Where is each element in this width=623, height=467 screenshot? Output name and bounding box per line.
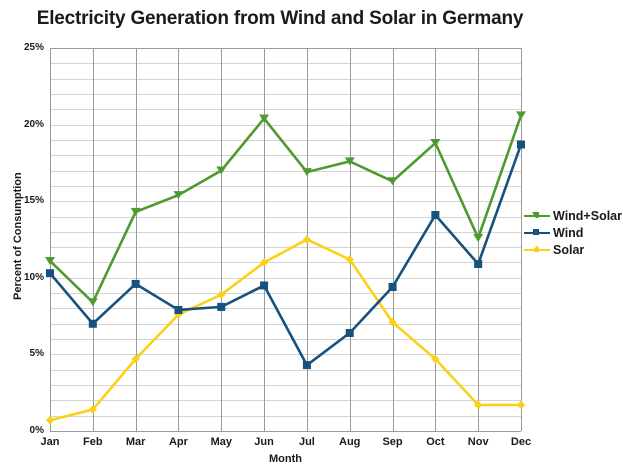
legend-item-wind-solar[interactable]: Wind+Solar	[524, 207, 622, 224]
legend-label: Wind+Solar	[553, 209, 622, 223]
legend-swatch-solar-icon	[524, 243, 550, 257]
legend-label: Wind	[553, 226, 583, 240]
chart-container: Electricity Generation from Wind and Sol…	[0, 0, 623, 467]
x-tick-dec: Dec	[496, 436, 546, 448]
y-tick-20: 20%	[2, 119, 44, 130]
y-tick-0: 0%	[2, 425, 44, 436]
x-axis-title: Month	[50, 453, 521, 465]
y-tick-5: 5%	[2, 348, 44, 359]
minor-gridlines	[50, 64, 521, 417]
legend-item-wind[interactable]: Wind	[524, 224, 622, 241]
legend-item-solar[interactable]: Solar	[524, 241, 622, 258]
legend-label: Solar	[553, 243, 584, 257]
series-line-wind-solar	[50, 115, 521, 302]
chart-title: Electricity Generation from Wind and Sol…	[0, 8, 560, 30]
y-tick-15: 15%	[2, 195, 44, 206]
series-lines	[50, 115, 521, 420]
legend-swatch-wind-icon	[524, 226, 550, 240]
legend-swatch-wind-solar-icon	[524, 209, 550, 223]
series-line-solar	[50, 240, 521, 421]
chart-legend: Wind+SolarWindSolar	[524, 207, 622, 258]
y-tick-10: 10%	[2, 272, 44, 283]
y-tick-25: 25%	[2, 42, 44, 53]
